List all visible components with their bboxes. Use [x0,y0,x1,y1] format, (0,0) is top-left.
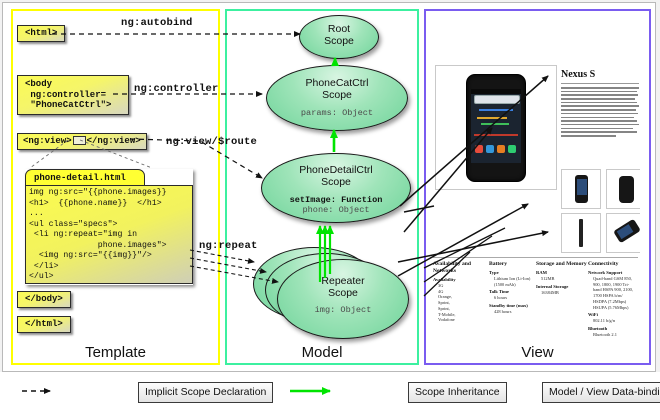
scope-repeater-prop-img: img: Object [278,305,408,315]
spec-column-connectivity: Connectivity Network Support Quad-band G… [588,261,636,337]
product-thumbnail-2[interactable] [606,169,640,209]
scope-root-line2: Scope [324,35,354,47]
ngview-open-tag: <ng:view> [23,136,72,146]
scope-repeater-title: Repeater Scope [278,260,408,300]
thumbnail-phone-front [575,175,588,203]
scope-catctrl-title: PhoneCatCtrl Scope [267,66,407,102]
spec-heading-storage: Storage and Memory [536,261,594,268]
product-thumbnail-4[interactable] [606,213,640,253]
spec-heading-battery: Battery [489,261,537,268]
angular-scope-diagram: Template <html> <body ng:controller= "Ph… [0,0,660,420]
spec-value: 6 hours [489,295,537,301]
code-box-html-open: <html> [17,25,65,42]
spec-value: 512MB [536,276,594,282]
title-divider [561,83,639,84]
spec-value: (1500 mAh) [489,282,537,288]
connector-label-autobind: ng:autobind [121,17,193,29]
phone-searchbar [474,95,520,104]
spec-column-availability: Availability and Networks Availability 3… [433,261,481,323]
phone-wallpaper-line-3 [481,123,509,125]
panel-template-label: Template [13,344,218,361]
scope-detail-line2: Scope [321,176,351,188]
scope-root-line1: Root [328,23,350,35]
scope-oval-repeater-stack: Repeater Scope img: Object [253,243,413,343]
spec-value: Vodafone [433,317,481,323]
note-phone-detail-html: phone-detail.html img ng:src="{{phone.im… [25,169,193,285]
scope-repeater-line1: Repeater [321,275,364,287]
spec-value: 428 hours [489,309,537,315]
phone-device-image [466,74,526,182]
scope-detail-title: PhoneDetailCtrl Scope [262,154,410,189]
spec-column-storage: Storage and Memory RAM 512MB Internal St… [536,261,594,295]
ngview-close-tag: </ng:view> [87,136,141,146]
phone-app-icon-2 [486,145,494,153]
product-description [561,87,639,139]
scope-detail-prop-setimage: setImage: Function [262,195,410,205]
spec-value: Bluetooth 2.1 [588,332,636,337]
spec-value: Lithium Ion (Li-Ion) [489,276,537,282]
panel-model-label: Model [227,344,417,361]
legend-label-scope-inheritance: Scope Inheritance [408,382,507,403]
spec-value: HSUPA (5.76Mbps) [588,305,636,311]
spec-table: Availability and Networks Availability 3… [433,261,640,337]
connector-label-repeat: ng:repeat [199,240,258,252]
thumbnail-phone-back [619,176,634,203]
scope-catctrl-line1: PhoneCatCtrl [305,77,368,89]
spec-value: Quad-band GSM 850, [588,276,636,282]
phone-screen [471,89,521,163]
scope-catctrl-line2: Scope [322,89,352,101]
scope-oval-phonedetailctrl: PhoneDetailCtrl Scope setImage: Function… [261,153,411,223]
connector-label-controller: ng:controller [134,83,219,95]
product-title: Nexus S [561,69,595,80]
phone-wallpaper-line-4 [474,134,518,136]
diagram-canvas: Template <html> <body ng:controller= "Ph… [2,2,656,372]
phone-app-icon-4 [508,145,516,153]
rendered-view-page: Nexus S [431,17,640,337]
scope-detail-line1: PhoneDetailCtrl [299,164,373,176]
phone-wallpaper-line-1 [479,109,513,111]
spec-heading-connectivity: Connectivity [588,261,636,268]
scope-oval-repeater: Repeater Scope img: Object [277,259,409,339]
code-box-html-close: </html> [17,316,71,333]
product-thumbnail-1[interactable] [561,169,601,209]
ngview-slot-icon [73,136,86,145]
spec-value: 16384MB [536,290,594,296]
scope-root-title: Root Scope [300,16,378,48]
scope-oval-phonecatctrl: PhoneCatCtrl Scope params: Object [266,65,408,131]
scope-catctrl-prop-params: params: Object [267,108,407,118]
note-code: img ng:src="{{phone.images}} <h1> {{phon… [25,185,193,284]
phone-app-icon-3 [497,145,505,153]
code-box-body-open: <body ng:controller= "PhoneCatCtrl"> [17,75,129,115]
scope-detail-prop-phone: phone: Object [262,205,410,215]
thumbnail-phone-angled [613,219,640,244]
legend-label-data-binding: Model / View Data-binding [542,382,660,403]
scope-oval-root: Root Scope [299,15,379,59]
phone-wallpaper-line-2 [477,117,507,119]
spec-value: 802.11 b/g/n [588,318,636,324]
note-title: phone-detail.html [26,170,144,183]
legend-label-implicit-scope: Implicit Scope Declaration [138,382,273,403]
phone-hero-image-frame [435,65,557,190]
connector-label-ngview-route: ng:view/$route [166,136,257,148]
code-box-ngview: <ng:view></ng:view> [17,133,147,150]
thumbnail-phone-side [579,219,583,247]
spec-column-battery: Battery Type Lithium Ion (Li-Ion) (1500 … [489,261,537,315]
spec-heading-availability: Availability and Networks [433,261,481,275]
product-thumbnail-3[interactable] [561,213,601,253]
code-box-body-close: </body> [17,291,71,308]
phone-statusbar [471,89,521,94]
spec-table-divider [433,257,638,258]
panel-view-label: View [426,344,649,361]
phone-app-icon-1 [475,145,483,153]
legend: Implicit Scope Declaration Scope Inherit… [0,372,660,420]
scope-repeater-line2: Scope [328,287,358,299]
